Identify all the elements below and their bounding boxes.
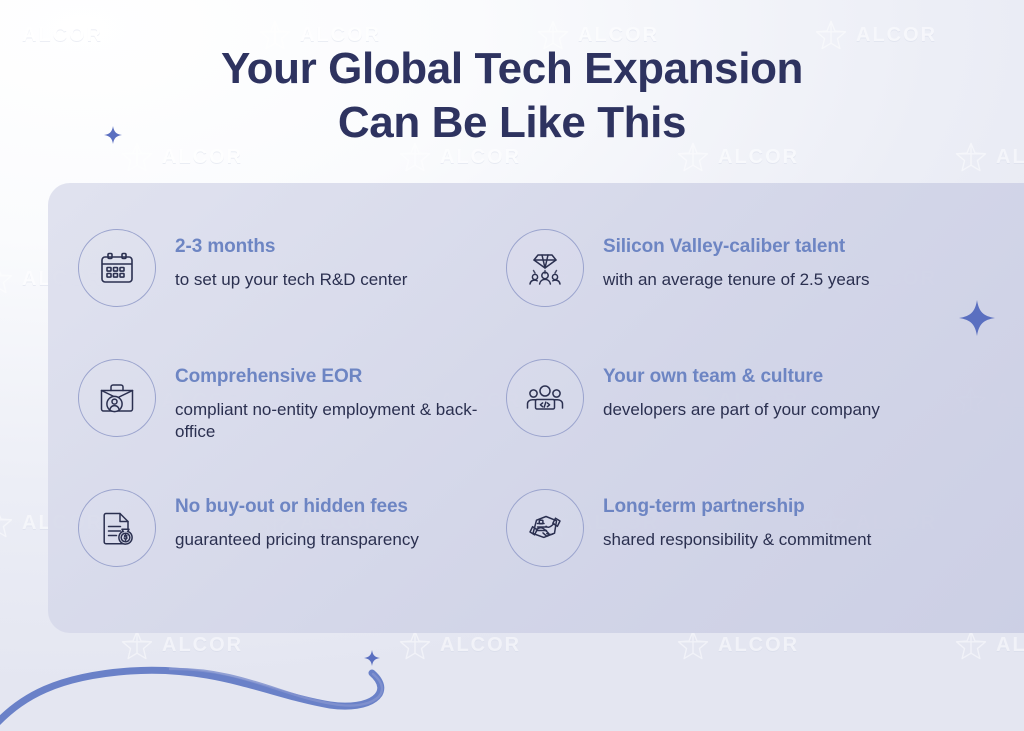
page-title: Your Global Tech Expansion Can Be Like T… bbox=[0, 42, 1024, 149]
watermark-label: ALCOR bbox=[718, 634, 799, 657]
benefits-grid: 2-3 months to set up your tech R&D cente… bbox=[48, 183, 1024, 633]
benefit-text: No buy-out or hidden fees guaranteed pri… bbox=[175, 489, 419, 551]
document-money-icon bbox=[78, 489, 156, 567]
benefit-description: guaranteed pricing transparency bbox=[175, 529, 419, 551]
watermark-label: ALCOR bbox=[996, 634, 1024, 657]
page-title-line-2: Can Be Like This bbox=[0, 96, 1024, 150]
sparkle-swoosh-tip bbox=[364, 650, 380, 666]
benefit-item: Comprehensive EOR compliant no-entity em… bbox=[78, 355, 506, 485]
benefit-description: with an average tenure of 2.5 years bbox=[603, 269, 870, 291]
benefit-text: Comprehensive EOR compliant no-entity em… bbox=[175, 359, 506, 444]
sparkle-small-left bbox=[104, 126, 122, 144]
benefit-description: developers are part of your company bbox=[603, 399, 880, 421]
benefit-item: Your own team & culture developers are p… bbox=[506, 355, 946, 485]
benefit-item: Silicon Valley-caliber talent with an av… bbox=[506, 225, 946, 355]
alcor-watermark: ALCOR bbox=[676, 628, 799, 662]
benefit-title: 2-3 months bbox=[175, 236, 407, 258]
benefit-title: Comprehensive EOR bbox=[175, 366, 506, 388]
benefit-item: No buy-out or hidden fees guaranteed pri… bbox=[78, 485, 506, 615]
benefit-title: Silicon Valley-caliber talent bbox=[603, 236, 870, 258]
benefit-item: 2-3 months to set up your tech R&D cente… bbox=[78, 225, 506, 355]
calendar-icon bbox=[78, 229, 156, 307]
benefit-text: 2-3 months to set up your tech R&D cente… bbox=[175, 229, 407, 291]
handshake-document-icon bbox=[506, 489, 584, 567]
benefit-title: Long-term partnership bbox=[603, 496, 871, 518]
page-title-line-1: Your Global Tech Expansion bbox=[0, 42, 1024, 96]
benefit-text: Your own team & culture developers are p… bbox=[603, 359, 880, 421]
benefits-panel: 2-3 months to set up your tech R&D cente… bbox=[48, 183, 1024, 633]
alcor-watermark: ALCOR bbox=[954, 628, 1024, 662]
swoosh-curve-decoration bbox=[0, 621, 520, 731]
team-code-icon bbox=[506, 359, 584, 437]
benefit-description: shared responsibility & commitment bbox=[603, 529, 871, 551]
sparkle-large-right bbox=[959, 300, 995, 336]
briefcase-person-icon bbox=[78, 359, 156, 437]
diamond-team-icon bbox=[506, 229, 584, 307]
benefit-description: compliant no-entity employment & back-of… bbox=[175, 399, 506, 444]
benefit-text: Silicon Valley-caliber talent with an av… bbox=[603, 229, 870, 291]
benefit-description: to set up your tech R&D center bbox=[175, 269, 407, 291]
benefit-text: Long-term partnership shared responsibil… bbox=[603, 489, 871, 551]
benefit-title: No buy-out or hidden fees bbox=[175, 496, 419, 518]
benefit-item: Long-term partnership shared responsibil… bbox=[506, 485, 946, 615]
benefit-title: Your own team & culture bbox=[603, 366, 880, 388]
